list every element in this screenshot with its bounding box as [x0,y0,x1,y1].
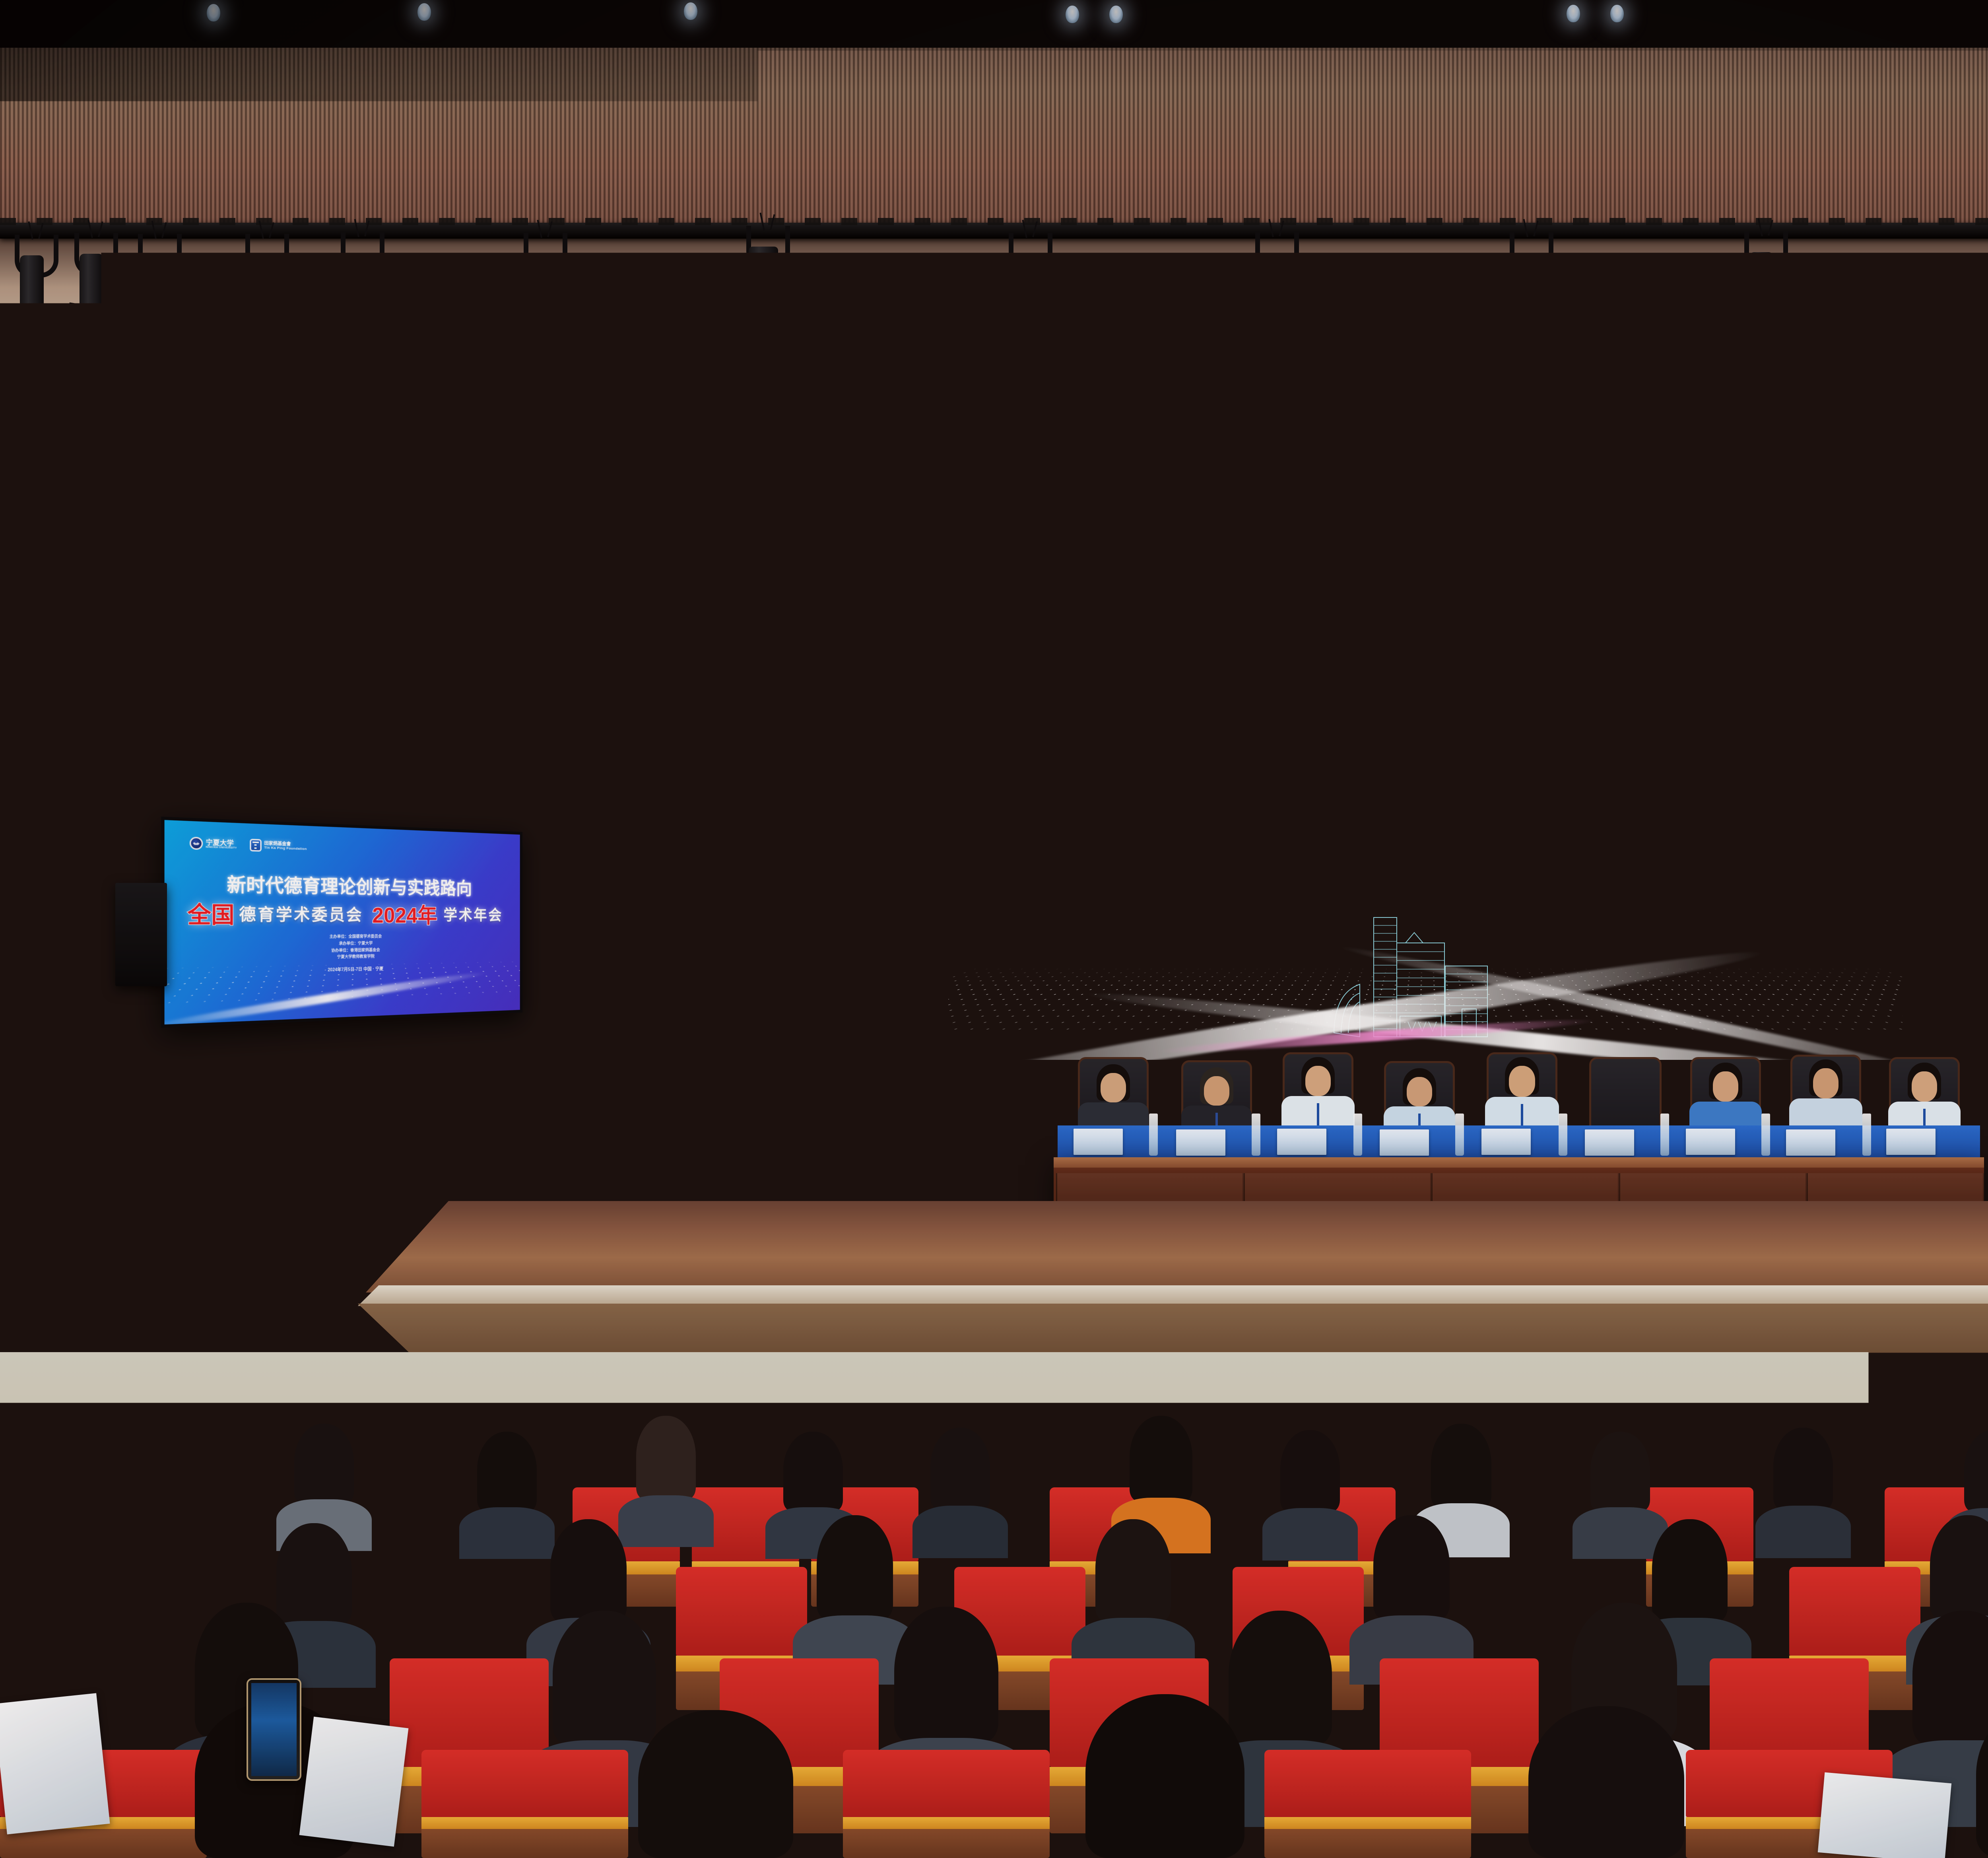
audience-seat-foreground [1264,1750,1471,1858]
stage-light [1738,231,1785,351]
left-display-committee: 德育学术委员会 [239,901,363,925]
main-led-screen: 宁夏大学 NINGXIA UNIVERSITY 田家炳基金會 Tin Ka Pi… [946,608,1905,1062]
conference-booklet [1225,1432,1271,1463]
nameplate [1277,1129,1326,1155]
smartphone-screen [251,1683,297,1776]
water-bottle [588,1408,600,1460]
left-wall-speaker [115,883,167,986]
ceiling-speaker [207,676,306,736]
stage-light [68,233,115,352]
printed-document [299,1716,409,1846]
audience-member-foreground [1487,1706,1726,1858]
screen-subtitle-row: 全国 德育学术委员会 2024年 学术年会 [948,774,1903,847]
left-display-title: 新时代德育理论创新与实践路向 [165,868,520,900]
university-name-cn: 宁夏大学 [1037,649,1100,665]
conference-booklet [390,1432,436,1463]
conference-booklet [1710,1432,1756,1463]
nameplate [1481,1129,1531,1155]
water-bottle [1353,1114,1362,1156]
screen-logo-row: 宁夏大学 NINGXIA UNIVERSITY 田家炳基金會 Tin Ka Pi… [1005,647,1248,673]
stage-light-moving-head [740,226,787,345]
ceiling-downlight [207,4,220,21]
left-display-subtitle-row: 全国 德育学术委员会 2024年 学术年会 [165,896,520,930]
stage-light [1248,232,1296,352]
water-bottle [1455,1114,1464,1156]
lectern-microphone [887,1093,896,1102]
screen-event-name: 学术年会 [1645,784,1806,837]
left-wall-display: 宁夏大学 NINGXIA UNIVERSITY 田家炳基金會 Tin Ka Pi… [161,816,522,1028]
nameplate [1176,1129,1225,1156]
audience-member-foreground [1042,1694,1288,1858]
water-bottle [1559,1114,1567,1156]
left-display-screen: 宁夏大学 NINGXIA UNIVERSITY 田家炳基金會 Tin Ka Pi… [165,820,520,1024]
foundation-name-en: Tin Ka Ping Foundation [264,846,307,851]
stage-floor [366,1201,1988,1292]
water-bottle [1252,1114,1260,1156]
audience-member [1352,1515,1471,1678]
stage-light [8,235,56,354]
water-bottle [1761,1114,1770,1156]
stage-light [334,232,382,352]
printed-document [0,1693,110,1834]
lectern-flower-arrangement [807,1110,911,1201]
audience-member-foreground [596,1710,835,1858]
ceiling-top-shadow [0,0,1988,48]
wall-acoustic-panel [16,585,149,888]
audience-member [914,1428,1006,1551]
printed-document [1818,1772,1951,1858]
stage-light [1503,232,1551,352]
nameplate [1585,1129,1634,1156]
university-name-cn: 宁夏大学 [206,839,237,847]
nameplate [1380,1129,1429,1156]
university-seal-icon [1005,647,1031,673]
foundation-name-cn: 田家炳基金會 [1157,651,1248,661]
auditorium-scene: 全国德育学术委员会2024年学术年会 宁夏大学 NINGXIA UNIVERSI… [0,0,1988,1858]
screen-year: 2024年 [1468,775,1629,846]
nameplate [1786,1129,1835,1156]
stage-light [131,234,179,353]
audience-member [1074,1519,1193,1678]
water-bottle [1660,1114,1669,1156]
nameplate [1886,1129,1936,1155]
university-name-en: NINGXIA UNIVERSITY [1037,667,1100,672]
audience-member [48,1511,167,1670]
truss-clamp-row [0,218,1988,225]
attendee-smartphone [247,1678,301,1781]
screen-committee-name: 德育学术委员会 [1156,783,1444,838]
left-display-logo-row: 宁夏大学 NINGXIA UNIVERSITY 田家炳基金會 Tin Ka Pi… [190,837,307,853]
water-bottle [1862,1114,1871,1156]
stage-light [517,233,565,352]
conference-booklet [223,1432,269,1463]
led-banner: 全国德育学术委员会2024年学术年会 [612,418,1988,534]
university-seal-icon [190,837,203,850]
panel-table-top [1054,1157,1984,1168]
foundation-name-en: Tin Ka Ping Foundation [1157,663,1248,670]
tin-ka-ping-foundation-logo: 田家炳基金會 Tin Ka Ping Foundation [1128,647,1248,673]
nameplate [1074,1129,1123,1155]
screen-main-title: 新时代德育理论创新与实践路向 [948,715,1903,779]
audience-member [1757,1428,1849,1551]
lighting-truss [0,223,1988,239]
ceiling-downlight [417,3,431,21]
stage-curtain-right [1972,533,1988,1193]
ceiling-downlight [1109,6,1123,23]
foundation-mark-icon [1128,647,1151,673]
water-bottle [871,1408,882,1460]
ceiling-downlight [1567,5,1580,22]
ceiling-downlight [1066,6,1079,23]
ceiling-downlight [1610,5,1624,22]
water-bottle [1149,1114,1158,1156]
stage-light [1002,233,1050,352]
foundation-mark-icon [250,839,262,851]
nameplate [1686,1129,1735,1155]
stage-edge-nosing [358,1285,1988,1306]
left-display-year: 2024年 [372,898,437,929]
left-display-organizers: 主办单位：全国德育学术委员会 承办单位：宁夏大学 协办单位：香港田家炳基金会 宁… [165,933,520,964]
left-display-emblem: 全国 [187,896,234,929]
stage-light [239,234,286,353]
printed-document [911,1762,1037,1858]
left-display-event: 学术年会 [444,903,503,925]
stage-curtain-left [596,533,819,1193]
audience-member [1264,1430,1356,1553]
ceiling-downlight [684,2,697,20]
led-banner-text: 全国德育学术委员会2024年学术年会 [717,420,1988,533]
ceiling-rear-soffit [0,223,1988,366]
screen-emblem-quanguo: 全国 [1045,774,1145,847]
screen-bottom-graphic [948,871,1903,1060]
ningxia-university-logo: 宁夏大学 NINGXIA UNIVERSITY [1005,647,1100,673]
